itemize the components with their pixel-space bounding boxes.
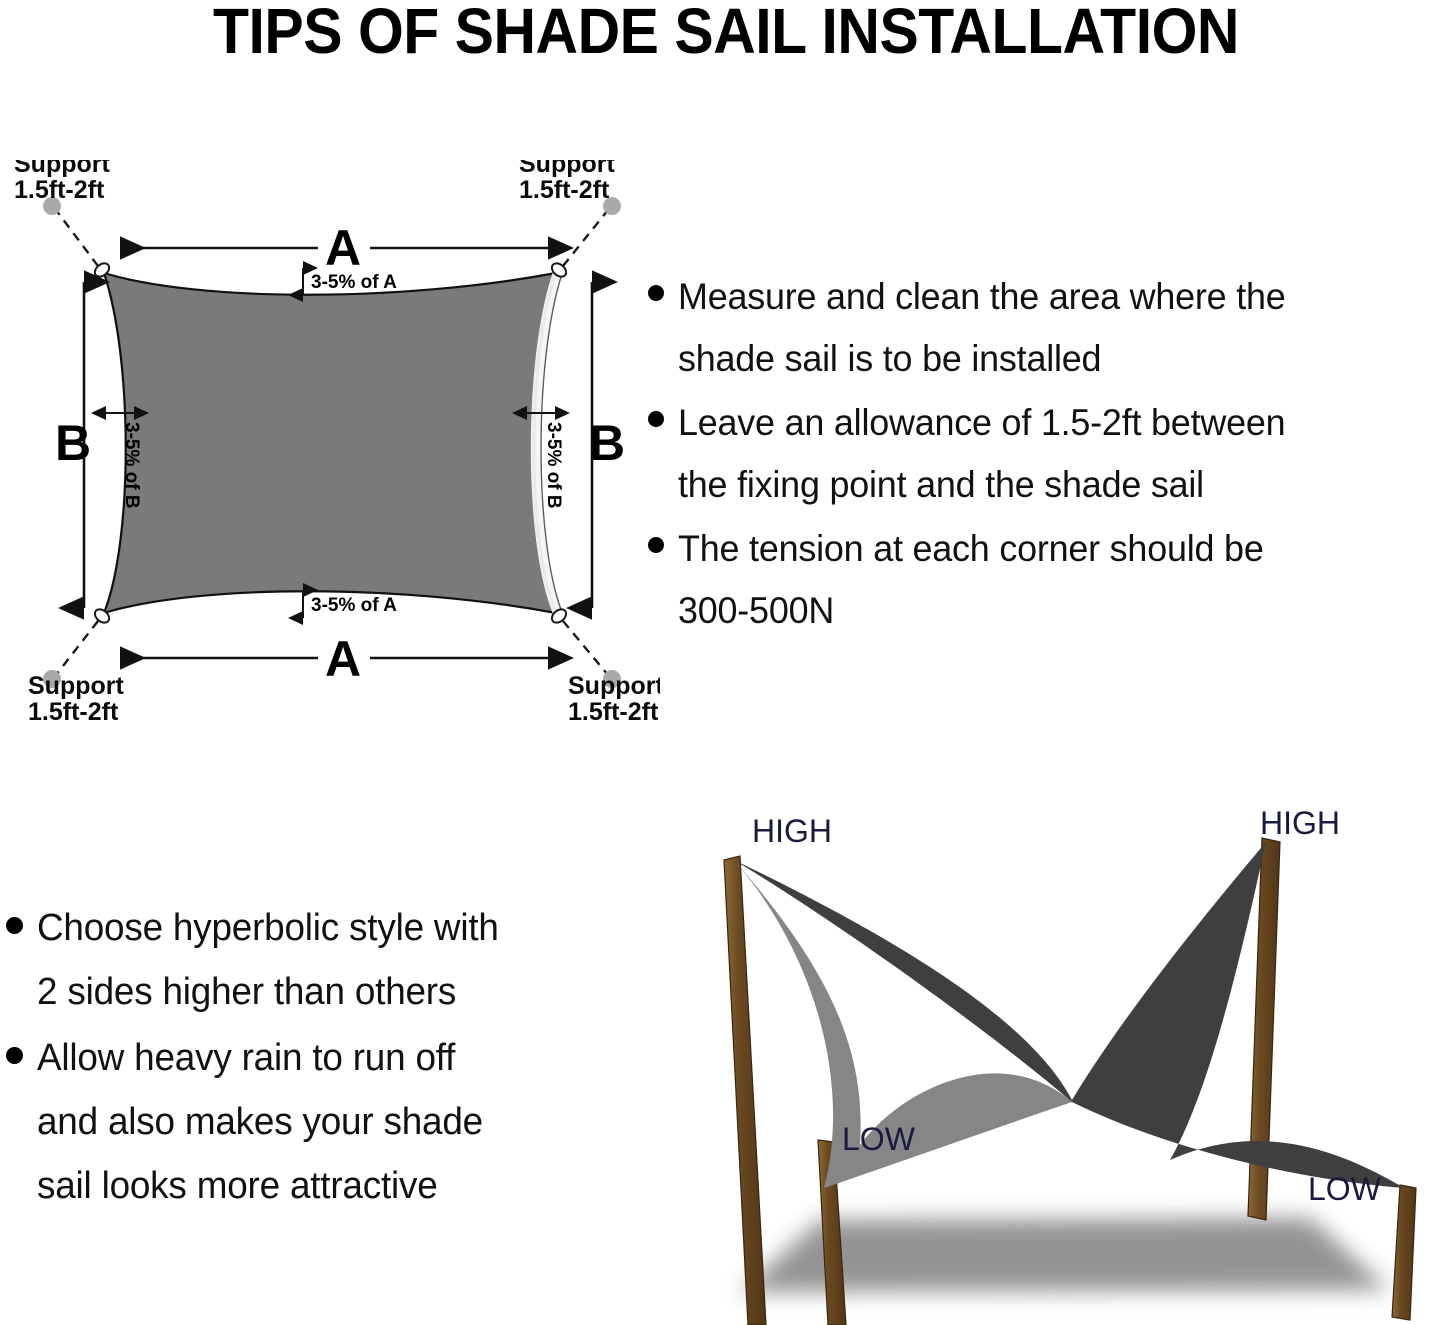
support-label-bottom-right-line2: 1.5ft-2ft xyxy=(568,698,659,726)
label-high-left: HIGH xyxy=(752,813,832,849)
bullet-dot-icon xyxy=(648,285,664,301)
sag-label-bottom: 3-5% of A xyxy=(311,595,397,616)
dashed-line-bottom-right xyxy=(563,621,608,675)
dashed-line-top-left xyxy=(56,210,98,266)
sag-label-right: 3-5% of B xyxy=(543,422,564,509)
page-title: TIPS OF SHADE SAIL INSTALLATION xyxy=(58,0,1394,64)
dashed-line-top-right xyxy=(563,210,608,266)
support-label-top-left-line2: 1.5ft-2ft xyxy=(14,176,105,204)
dim-label-bottom-A: A xyxy=(325,631,361,687)
bullet-dot-icon xyxy=(648,411,664,427)
list-item: Leave an allowance of 1.5-2ft between th… xyxy=(648,392,1452,516)
sag-label-top: 3-5% of A xyxy=(311,272,397,293)
label-high-right: HIGH xyxy=(1260,805,1340,841)
bullet-dot-icon xyxy=(6,917,23,934)
post-right-low xyxy=(1392,1185,1416,1320)
list-item: Measure and clean the area where the sha… xyxy=(648,266,1452,390)
list-item: Allow heavy rain to run off and also mak… xyxy=(6,1026,626,1218)
dim-label-right-B: B xyxy=(589,415,625,471)
infographic-page: TIPS OF SHADE SAIL INSTALLATION xyxy=(0,0,1452,1325)
dashed-line-bottom-left xyxy=(56,621,98,675)
tip-text: Choose hyperbolic style with 2 sides hig… xyxy=(37,896,608,1024)
bullet-dot-icon xyxy=(648,537,664,553)
post-left-high xyxy=(724,856,766,1325)
list-item: Choose hyperbolic style with 2 sides hig… xyxy=(6,896,626,1024)
dim-label-left-B: B xyxy=(55,415,91,471)
tips-list-bottom: Choose hyperbolic style with 2 sides hig… xyxy=(6,896,626,1220)
list-item: The tension at each corner should be 300… xyxy=(648,518,1452,642)
label-low-left: LOW xyxy=(842,1121,916,1157)
support-label-top-right-line2: 1.5ft-2ft xyxy=(519,176,610,204)
tip-text: Measure and clean the area where the sha… xyxy=(678,266,1431,390)
tip-text: Leave an allowance of 1.5-2ft between th… xyxy=(678,392,1431,516)
hyperbolic-sail-diagram: HIGH HIGH LOW LOW xyxy=(700,790,1452,1325)
sail-shape xyxy=(104,273,556,613)
bullet-dot-icon xyxy=(6,1047,23,1064)
support-label-bottom-left-line1: Support xyxy=(28,672,124,700)
support-label-bottom-left-line2: 1.5ft-2ft xyxy=(28,698,119,726)
tips-list-top: Measure and clean the area where the sha… xyxy=(648,266,1452,644)
dim-label-top-A: A xyxy=(325,220,361,276)
label-low-right: LOW xyxy=(1308,1171,1382,1207)
support-label-bottom-right-line1: Support xyxy=(568,672,660,700)
sag-label-left: 3-5% of B xyxy=(121,422,142,509)
tip-text: The tension at each corner should be 300… xyxy=(678,518,1431,642)
rectangular-sail-diagram: A A B B 3-5% of A 3-5% of A 3-5% of B 3-… xyxy=(0,160,660,730)
tip-text: Allow heavy rain to run off and also mak… xyxy=(37,1026,608,1218)
